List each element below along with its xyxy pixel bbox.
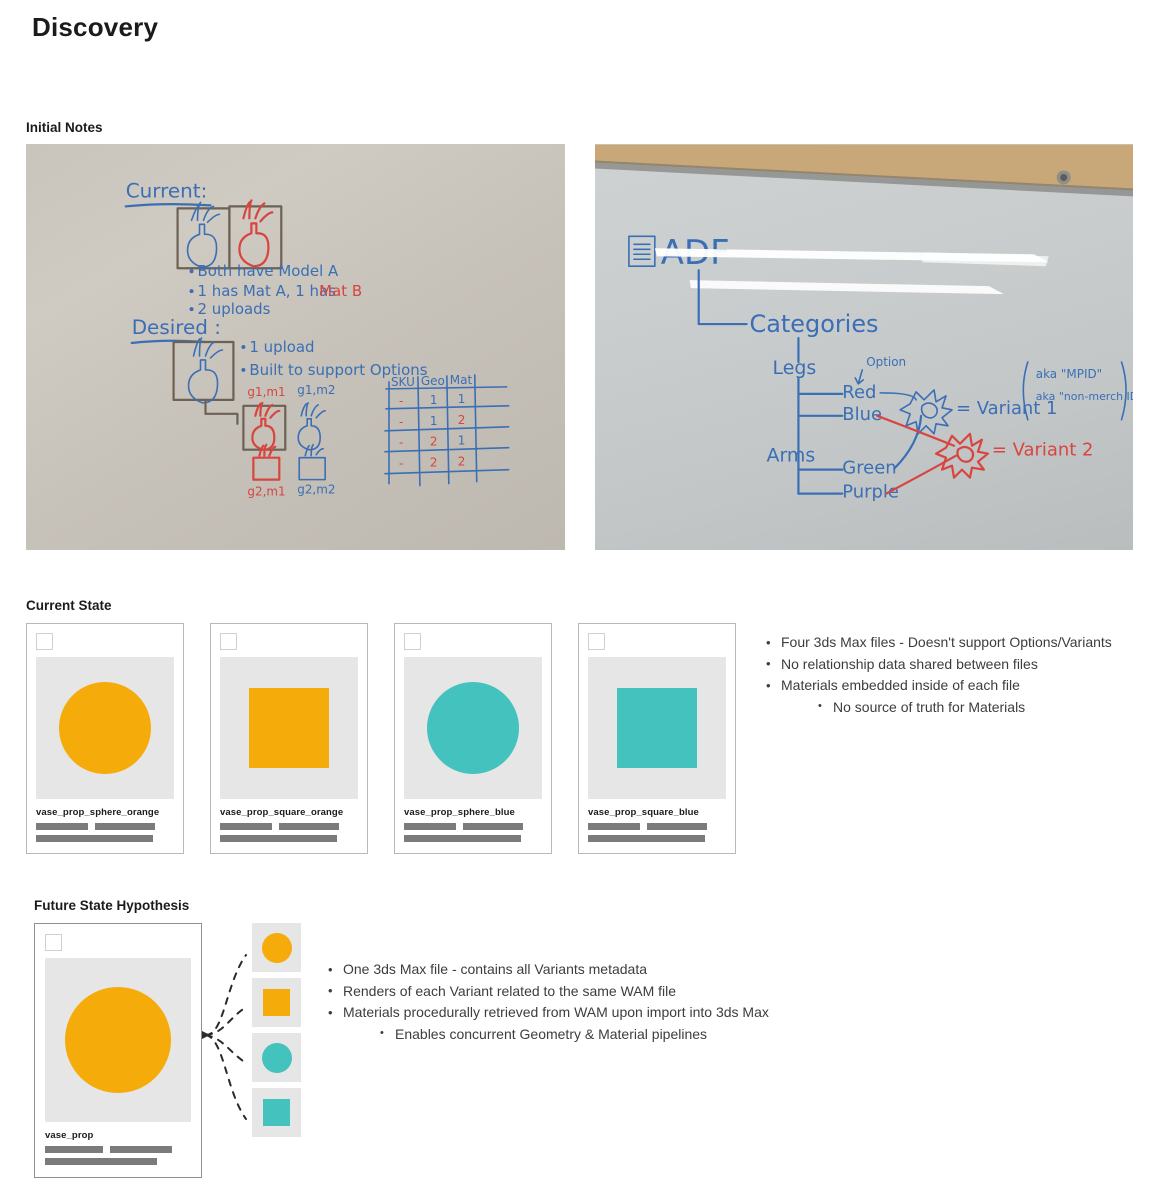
shape-square-teal bbox=[617, 688, 697, 768]
svg-text:2: 2 bbox=[458, 455, 466, 469]
card-filename: vase_prop_sphere_blue bbox=[404, 807, 542, 818]
initial-notes-label: Initial Notes bbox=[26, 120, 1133, 135]
branch-arrow-icon bbox=[202, 1031, 210, 1039]
shape-square-orange bbox=[249, 688, 329, 768]
bullet-item: Renders of each Variant related to the s… bbox=[326, 981, 769, 1003]
dashed-branch-svg bbox=[202, 923, 252, 1153]
meta-bar-wide bbox=[404, 835, 521, 842]
svg-text:1: 1 bbox=[430, 393, 438, 407]
hw-sku-table: SKU Geo Mat - 1 1 - 1 2 - 2 1 - 2 2 bbox=[385, 373, 509, 486]
asset-card[interactable]: vase_prop_sphere_orange bbox=[26, 623, 184, 854]
card-meta-bars bbox=[220, 823, 358, 830]
svg-text:-: - bbox=[399, 436, 403, 450]
svg-text:2: 2 bbox=[458, 413, 466, 427]
bullet-item: No relationship data shared between file… bbox=[764, 654, 1112, 676]
card-filename: vase_prop_square_blue bbox=[588, 807, 726, 818]
meta-bar-wide bbox=[220, 835, 337, 842]
current-state-card-row: vase_prop_sphere_orange vase_prop_square… bbox=[26, 623, 736, 854]
hw-adf-categories: Categories bbox=[749, 310, 878, 338]
shape-circle-orange bbox=[65, 987, 171, 1093]
meta-bar bbox=[110, 1146, 172, 1153]
card-filename: vase_prop_square_orange bbox=[220, 807, 358, 818]
shape-circle-orange bbox=[262, 933, 292, 963]
card-checkbox[interactable] bbox=[588, 633, 605, 650]
card-filename: vase_prop bbox=[45, 1130, 191, 1141]
variant-swatch[interactable] bbox=[252, 1033, 301, 1082]
shape-circle-orange bbox=[59, 682, 151, 774]
asset-card[interactable]: vase_prop_square_blue bbox=[578, 623, 736, 854]
whiteboard-photo-adf-categories: ADF Categories Legs Red Blue Arms Green bbox=[595, 144, 1134, 550]
hw-variant-label-3: g2,m2 bbox=[297, 483, 335, 497]
hw-variant-label-2: g2,m1 bbox=[247, 485, 285, 499]
hw-heading-current: Current: bbox=[126, 178, 208, 202]
bullet-item: Materials procedurally retrieved from WA… bbox=[326, 1002, 769, 1024]
bullet-item: Materials embedded inside of each file bbox=[764, 675, 1112, 697]
future-state-section: Future State Hypothesis vase_prop bbox=[34, 898, 1134, 1178]
shape-square-orange bbox=[263, 989, 290, 1016]
hw-desired-bullet-0: 1 upload bbox=[249, 338, 314, 356]
whiteboard-2-ink: ADF Categories Legs Red Blue Arms Green bbox=[595, 144, 1134, 550]
svg-text:1: 1 bbox=[458, 434, 466, 448]
shape-circle-teal bbox=[262, 1043, 292, 1073]
shape-circle-teal bbox=[427, 682, 519, 774]
card-checkbox[interactable] bbox=[45, 934, 62, 951]
hw-current-bullet-1: 1 has Mat A, 1 has bbox=[198, 282, 337, 300]
future-asset-card[interactable]: vase_prop bbox=[34, 923, 202, 1178]
meta-bar bbox=[404, 823, 456, 830]
card-checkbox[interactable] bbox=[36, 633, 53, 650]
hw-option-blue: Blue bbox=[842, 404, 882, 425]
asset-card[interactable]: vase_prop_sphere_blue bbox=[394, 623, 552, 854]
svg-text:2: 2 bbox=[430, 456, 438, 470]
variant-connector-lines bbox=[202, 923, 252, 1178]
svg-text:1: 1 bbox=[458, 392, 466, 406]
meta-bar bbox=[220, 823, 272, 830]
meta-bar-wide bbox=[36, 835, 153, 842]
hw-current-bullet-0: Both have Model A bbox=[198, 262, 339, 280]
svg-text:-: - bbox=[399, 415, 403, 429]
current-state-label: Current State bbox=[26, 598, 1136, 613]
meta-bar bbox=[647, 823, 707, 830]
hw-heading-desired: Desired : bbox=[132, 315, 221, 339]
hw-variant-2: = Variant 2 bbox=[991, 440, 1092, 461]
card-checkbox[interactable] bbox=[404, 633, 421, 650]
meta-bar bbox=[463, 823, 523, 830]
card-meta-bars bbox=[36, 823, 174, 830]
bullet-item: Four 3ds Max files - Doesn't support Opt… bbox=[764, 632, 1112, 654]
current-state-bullets: Four 3ds Max files - Doesn't support Opt… bbox=[764, 623, 1112, 718]
variant-swatch-column bbox=[252, 923, 301, 1137]
meta-bar bbox=[95, 823, 155, 830]
hw-sku-header-2: Mat bbox=[450, 373, 473, 387]
meta-bar-wide bbox=[588, 835, 705, 842]
meta-bar bbox=[588, 823, 640, 830]
card-thumbnail bbox=[588, 657, 726, 799]
hw-option-label: Option bbox=[866, 355, 906, 369]
meta-bar bbox=[45, 1146, 103, 1153]
bullet-item: One 3ds Max file - contains all Variants… bbox=[326, 959, 769, 981]
bullet-item-sub: Enables concurrent Geometry & Material p… bbox=[326, 1024, 769, 1046]
variant-swatch[interactable] bbox=[252, 978, 301, 1027]
card-meta-bars bbox=[404, 823, 542, 830]
svg-text:1: 1 bbox=[430, 414, 438, 428]
hw-option-red: Red bbox=[842, 382, 876, 403]
hw-variant-label-0: g1,m1 bbox=[247, 385, 285, 399]
current-state-section: Current State vase_prop_sphere_orange bbox=[26, 598, 1136, 854]
card-meta-bars bbox=[588, 823, 726, 830]
card-thumbnail bbox=[36, 657, 174, 799]
svg-text:-: - bbox=[399, 457, 403, 471]
hw-aside-0: aka "MPID" bbox=[1035, 367, 1101, 381]
hw-sku-header-1: Geo bbox=[421, 374, 445, 388]
shape-square-teal bbox=[263, 1099, 290, 1126]
hw-current-bullet-1-red: Mat B bbox=[319, 282, 362, 300]
hw-aside-1: aka "non-merch ID" bbox=[1035, 390, 1133, 403]
hw-option-green: Green bbox=[842, 458, 896, 479]
future-state-bullets: One 3ds Max file - contains all Variants… bbox=[326, 923, 769, 1045]
card-filename: vase_prop_sphere_orange bbox=[36, 807, 174, 818]
bullet-item-sub: No source of truth for Materials bbox=[764, 697, 1112, 719]
whiteboard-1-ink: Current: Both have Model A 1 has Mat A, … bbox=[26, 144, 565, 550]
meta-bar-wide bbox=[45, 1158, 157, 1165]
svg-text:-: - bbox=[399, 394, 403, 408]
svg-text:2: 2 bbox=[430, 435, 438, 449]
hw-sku-header-0: SKU bbox=[391, 375, 415, 389]
variant-swatch[interactable] bbox=[252, 1088, 301, 1137]
initial-notes-section: Initial Notes Current: Both have Model A bbox=[26, 120, 1133, 550]
page-title: Discovery bbox=[32, 12, 158, 43]
initial-notes-photo-row: Current: Both have Model A 1 has Mat A, … bbox=[26, 144, 1133, 550]
card-thumbnail bbox=[404, 657, 542, 799]
future-state-label: Future State Hypothesis bbox=[34, 898, 1134, 913]
card-meta-bars bbox=[45, 1146, 191, 1153]
asset-card[interactable]: vase_prop_square_orange bbox=[210, 623, 368, 854]
variant-swatch[interactable] bbox=[252, 923, 301, 972]
card-thumbnail bbox=[45, 958, 191, 1122]
hw-variant-label-1: g1,m2 bbox=[297, 383, 335, 397]
hw-group-legs: Legs bbox=[772, 357, 816, 379]
card-checkbox[interactable] bbox=[220, 633, 237, 650]
whiteboard-photo-current-desired: Current: Both have Model A 1 has Mat A, … bbox=[26, 144, 565, 550]
card-thumbnail bbox=[220, 657, 358, 799]
meta-bar bbox=[36, 823, 88, 830]
meta-bar bbox=[279, 823, 339, 830]
hw-group-arms: Arms bbox=[766, 445, 815, 467]
